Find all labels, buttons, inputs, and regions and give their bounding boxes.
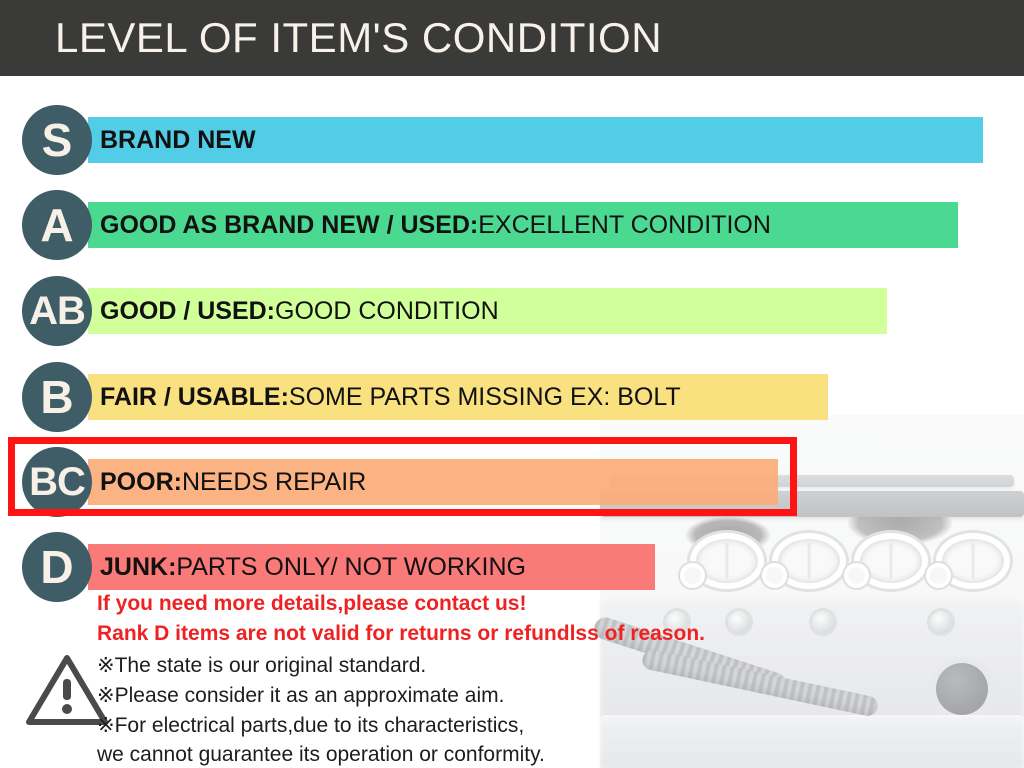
rank-text-s: BRAND NEW bbox=[100, 117, 256, 163]
rank-row-a: AGOOD AS BRAND NEW / USED: EXCELLENT CON… bbox=[0, 190, 1024, 260]
rank-rest-label: EXCELLENT CONDITION bbox=[478, 211, 771, 240]
rank-text-bc: POOR: NEEDS REPAIR bbox=[100, 459, 366, 505]
note-gray-line-4: we cannot guarantee its operation or con… bbox=[97, 743, 545, 767]
condition-chart-page: LEVEL OF ITEM'S CONDITION SBRAND NEWAGOO… bbox=[0, 0, 1024, 768]
note-red-line-2: Rank D items are not valid for returns o… bbox=[97, 622, 705, 646]
rank-badge-label: D bbox=[40, 544, 73, 590]
rank-rest-label: PARTS ONLY/ NOT WORKING bbox=[176, 553, 526, 582]
rank-text-ab: GOOD / USED: GOOD CONDITION bbox=[100, 288, 499, 334]
rank-lead-label: POOR: bbox=[100, 468, 182, 497]
rank-badge-label: B bbox=[40, 374, 73, 420]
rank-text-a: GOOD AS BRAND NEW / USED: EXCELLENT COND… bbox=[100, 202, 771, 248]
rank-badge-label: AB bbox=[29, 291, 85, 331]
rank-rest-label: NEEDS REPAIR bbox=[182, 468, 366, 497]
rank-badge-b: B bbox=[22, 362, 92, 432]
note-gray-line-2: ※Please consider it as an approximate ai… bbox=[97, 683, 504, 708]
rank-lead-label: GOOD AS BRAND NEW / USED: bbox=[100, 211, 478, 240]
page-title: LEVEL OF ITEM'S CONDITION bbox=[55, 14, 662, 62]
rank-badge-label: A bbox=[40, 202, 73, 248]
rank-text-d: JUNK: PARTS ONLY/ NOT WORKING bbox=[100, 544, 526, 590]
rank-row-b: BFAIR / USABLE: SOME PARTS MISSING EX: B… bbox=[0, 362, 1024, 432]
rank-rest-label: GOOD CONDITION bbox=[275, 297, 499, 326]
rank-lead-label: JUNK: bbox=[100, 553, 176, 582]
rank-badge-bc: BC bbox=[22, 447, 92, 517]
rank-badge-a: A bbox=[22, 190, 92, 260]
note-gray-line-3: ※For electrical parts,due to its charact… bbox=[97, 713, 524, 738]
rank-row-s: SBRAND NEW bbox=[0, 105, 1024, 175]
rank-row-ab: ABGOOD / USED: GOOD CONDITION bbox=[0, 276, 1024, 346]
rank-lead-label: GOOD / USED: bbox=[100, 297, 275, 326]
rank-badge-ab: AB bbox=[22, 276, 92, 346]
rank-badge-label: S bbox=[42, 117, 73, 163]
rank-text-b: FAIR / USABLE: SOME PARTS MISSING EX: BO… bbox=[100, 374, 681, 420]
note-gray-line-1: ※The state is our original standard. bbox=[97, 653, 426, 678]
rank-lead-label: BRAND NEW bbox=[100, 126, 256, 155]
rank-badge-d: D bbox=[22, 532, 92, 602]
rank-row-bc: BCPOOR: NEEDS REPAIR bbox=[0, 447, 1024, 517]
note-red-line-1: If you need more details,please contact … bbox=[97, 592, 526, 616]
header-bar: LEVEL OF ITEM'S CONDITION bbox=[0, 0, 1024, 76]
rank-lead-label: FAIR / USABLE: bbox=[100, 383, 289, 412]
rank-badge-s: S bbox=[22, 105, 92, 175]
rank-badge-label: BC bbox=[29, 462, 85, 502]
rank-rest-label: SOME PARTS MISSING EX: BOLT bbox=[289, 383, 681, 412]
